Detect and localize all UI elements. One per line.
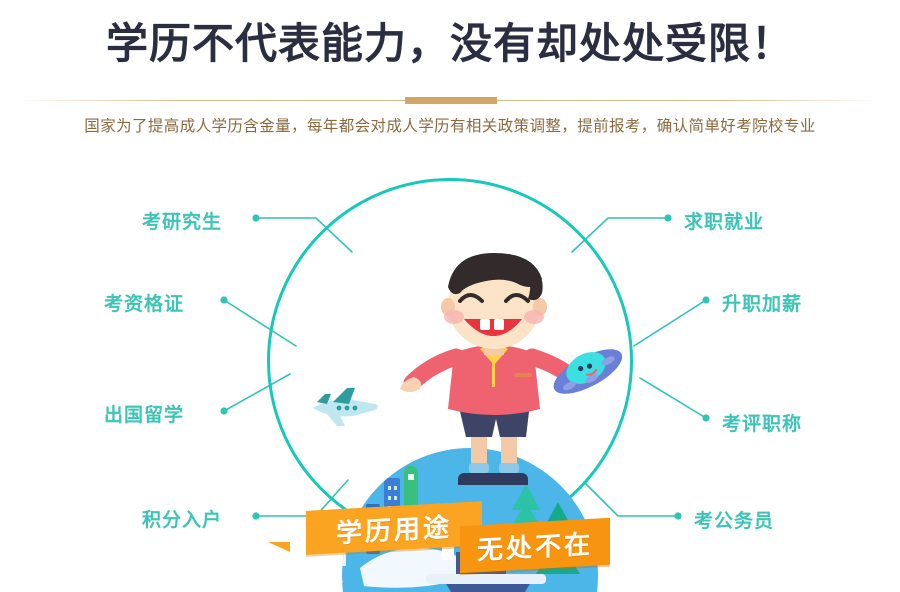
title-divider	[0, 97, 900, 105]
connector-dot	[252, 512, 259, 519]
label-kaogongwuyuan[interactable]: 考公务员	[694, 506, 774, 533]
connector-dot	[664, 214, 671, 221]
page-subtitle: 国家为了提高成人学历含金量，每年都会对成人学历有相关政策调整，提前报考，确认简单…	[0, 114, 900, 136]
label-kaoyanjiusheng[interactable]: 考研究生	[142, 207, 222, 234]
connector-dot	[220, 407, 227, 414]
poster-root: 学历不代表能力，没有却处处受限！ 国家为了提高成人学历含金量，每年都会对成人学历…	[0, 0, 900, 592]
page-title: 学历不代表能力，没有却处处受限！	[0, 18, 900, 70]
diagram-stage: T	[0, 150, 900, 592]
ribbon-right: 无处不在	[460, 518, 610, 573]
connector-dot	[220, 296, 227, 303]
label-shengzhijiaxin[interactable]: 升职加薪	[722, 289, 802, 316]
label-chuguoliuxue[interactable]: 出国留学	[104, 400, 184, 427]
connector-dot	[252, 214, 259, 221]
connector-dot	[674, 512, 681, 519]
header: 学历不代表能力，没有却处处受限！ 国家为了提高成人学历含金量，每年都会对成人学历…	[0, 0, 900, 150]
label-qiuzhijiuye[interactable]: 求职就业	[684, 207, 764, 234]
connector-dot	[702, 414, 709, 421]
label-kaopingzhicheng[interactable]: 考评职称	[722, 409, 802, 436]
label-kaozigezheng[interactable]: 考资格证	[104, 289, 184, 316]
ufo-icon	[543, 328, 629, 408]
connector-dot	[702, 296, 709, 303]
divider-center-block	[405, 97, 497, 104]
label-jifenruhu[interactable]: 积分入户	[142, 505, 222, 532]
plane-icon	[303, 380, 387, 432]
